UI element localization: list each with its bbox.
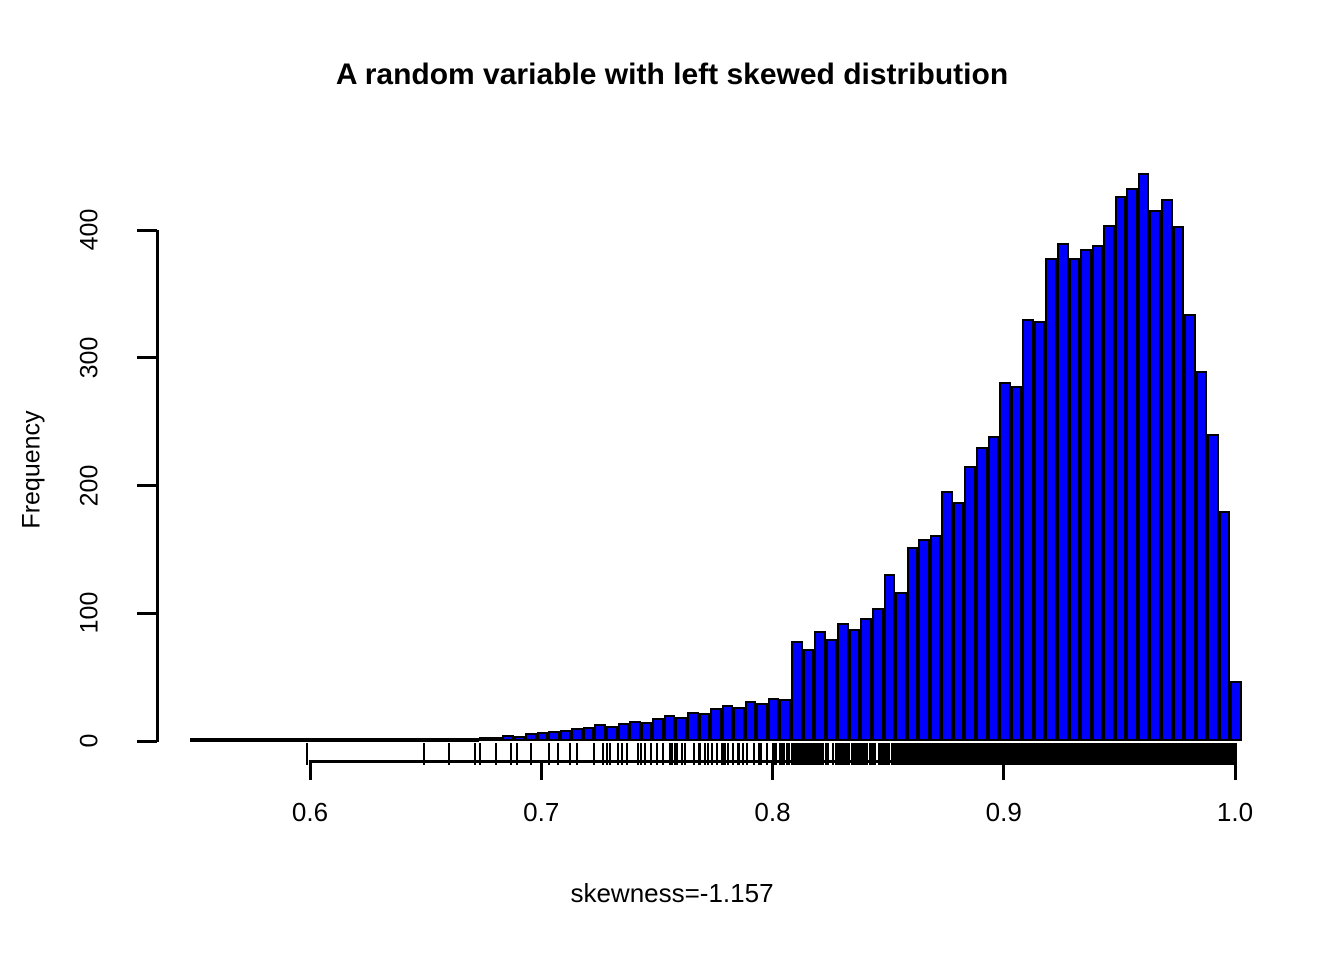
rug-tick <box>704 743 706 765</box>
rug-tick <box>640 743 642 765</box>
rug-tick <box>795 743 797 765</box>
rug-tick <box>684 743 686 765</box>
rug-tick <box>656 743 658 765</box>
rug-tick <box>792 743 794 765</box>
rug-tick <box>866 743 868 765</box>
rug-tick <box>783 743 785 765</box>
rug-tick <box>606 743 608 765</box>
rug-tick <box>650 743 652 765</box>
rug-tick <box>788 743 790 765</box>
rug-tick <box>817 743 819 765</box>
rug-tick <box>693 743 695 765</box>
rug-tick <box>888 743 890 765</box>
rug-tick <box>846 743 848 765</box>
rug-saturated-band <box>907 743 953 765</box>
rug-tick <box>707 743 709 765</box>
rug-tick <box>900 743 902 765</box>
rug-tick <box>699 743 701 765</box>
rug-tick <box>760 743 762 765</box>
rug-tick <box>885 743 887 765</box>
rug-tick <box>954 743 956 765</box>
rug-tick <box>960 743 962 765</box>
rug-tick <box>804 743 806 765</box>
rug-tick <box>1007 743 1009 765</box>
rug-tick <box>955 743 957 765</box>
rug-tick <box>723 743 725 765</box>
rug-tick <box>727 743 729 765</box>
rug-tick <box>990 743 992 765</box>
rug-tick <box>306 743 308 765</box>
rug-tick <box>617 743 619 765</box>
rug-tick <box>557 743 559 765</box>
rug-tick <box>800 743 802 765</box>
rug-tick <box>479 743 481 765</box>
rug-tick <box>852 743 854 765</box>
rug-tick <box>495 743 497 765</box>
rug-tick <box>474 743 476 765</box>
histogram-plot: A random variable with left skewed distr… <box>0 0 1344 960</box>
rug-tick <box>844 743 846 765</box>
rug-tick <box>775 743 777 765</box>
rug-tick <box>732 743 734 765</box>
rug-tick <box>711 743 713 765</box>
rug-tick <box>621 743 623 765</box>
rug-tick <box>746 743 748 765</box>
rug-tick <box>766 743 768 765</box>
rug-tick <box>609 743 611 765</box>
rug-tick <box>893 743 895 765</box>
rug-saturated-band <box>1015 743 1235 765</box>
rug-tick <box>637 743 639 765</box>
rug-tick <box>448 743 450 765</box>
rug-tick <box>977 743 979 765</box>
rug-tick <box>716 743 718 765</box>
rug-tick <box>826 743 828 765</box>
rug-tick <box>644 743 646 765</box>
rug-tick <box>738 743 740 765</box>
rug-tick <box>593 743 595 765</box>
rug-tick <box>781 743 783 765</box>
rug-tick <box>510 743 512 765</box>
rug-tick <box>980 743 982 765</box>
rug-tick <box>999 743 1001 765</box>
rug-tick <box>839 743 841 765</box>
rug-tick <box>516 743 518 765</box>
rug-tick <box>872 743 874 765</box>
rug-tick <box>903 743 905 765</box>
rug-tick <box>548 743 550 765</box>
rug-tick <box>671 743 673 765</box>
rug-tick <box>626 743 628 765</box>
rug-tick <box>676 743 678 765</box>
rug-tick <box>970 743 972 765</box>
rug-tick <box>862 743 864 765</box>
rug-tick <box>423 743 425 765</box>
rug-tick <box>854 743 856 765</box>
rug-tick <box>821 743 823 765</box>
rug-tick <box>814 743 816 765</box>
rug-tick <box>742 743 744 765</box>
rug-plot <box>0 0 1344 960</box>
rug-tick <box>874 743 876 765</box>
rug-tick <box>569 743 571 765</box>
rug-tick <box>576 743 578 765</box>
rug-tick <box>662 743 664 765</box>
rug-tick <box>602 743 604 765</box>
rug-tick <box>878 743 880 765</box>
rug-tick <box>983 743 985 765</box>
rug-tick <box>772 743 774 765</box>
rug-tick <box>753 743 755 765</box>
rug-tick <box>530 743 532 765</box>
rug-tick <box>786 743 788 765</box>
rug-tick <box>869 743 871 765</box>
rug-tick <box>898 743 900 765</box>
rug-tick <box>965 743 967 765</box>
